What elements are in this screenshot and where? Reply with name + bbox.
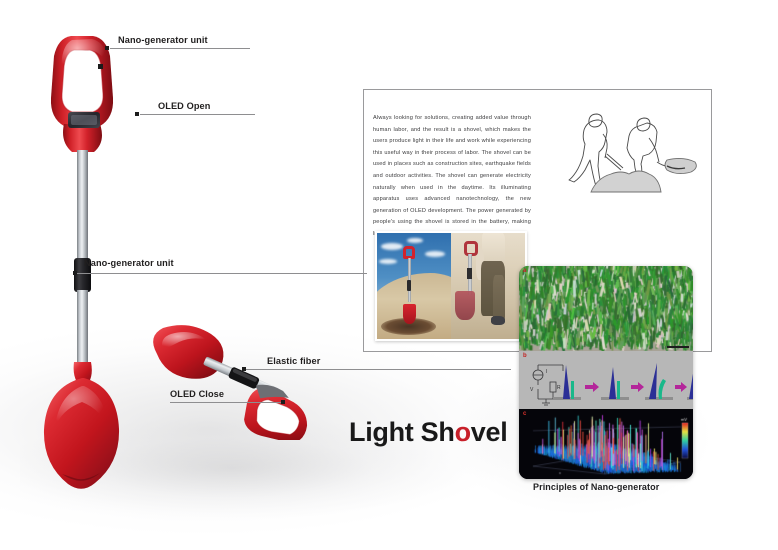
leader-dot-oled-close [281,400,285,404]
leader-dot-nano-generator-unit-mid [73,271,77,275]
voltage-spectrum-canvas [519,409,693,479]
nano-generator-principles-panel: a [519,266,693,479]
nano-panel-caption: Principles of Nano-generator [533,482,659,492]
panel-label-b: b [523,353,527,359]
page-title: Light Shovel [349,417,507,448]
title-part-2: vel [471,417,508,447]
annotation-oled-close: OLED Close [170,389,224,399]
leader-line-elastic-fiber [246,369,511,370]
cloud-shape [425,251,445,257]
afm-tip-bending-schematic: I V R [519,351,693,409]
leader-line-nano-generator-unit-mid [77,273,367,274]
annotation-elastic-fiber: Elastic fiber [267,356,320,366]
voltage-output-3d-map: c [519,409,693,479]
nano-generator-sleeve [467,268,472,279]
leader-line-oled-open [140,114,255,115]
nanowire-texture [519,266,693,351]
leader-dot-elastic-fiber [242,367,246,371]
leader-line-nano-generator-unit-top [110,48,250,49]
panel-label-a: a [523,268,526,274]
bending-sequence-graphic: I V R [519,351,693,409]
light-shovel-render-folded [145,320,345,440]
annotation-oled-open: OLED Open [158,101,210,111]
title-part-1: Light Sh [349,417,455,447]
cloud-shape [381,243,403,250]
title-accent-letter: o [455,417,471,447]
trouser-leg [493,275,505,320]
cloud-shape [379,259,397,264]
shovel-in-ground [407,246,412,324]
design-board: Nano-generator unit OLED Open Nano-gener… [0,0,778,550]
scale-bar [667,346,689,348]
shovel-blade [455,291,475,319]
person-digging-photo [451,233,525,339]
leader-dot-oled-open [135,112,139,116]
cloud-shape [407,238,423,243]
zno-nanowire-array-sem: a [519,266,693,351]
shovel-being-used [452,241,486,330]
svg-text:I: I [546,369,547,375]
two-figures-digging-illustration [563,108,703,208]
annotation-nano-generator-unit-top: Nano-generator unit [118,35,208,45]
product-photo-collage [375,231,527,341]
svg-text:R: R [557,385,561,391]
shovel-in-sand-photo [377,233,451,339]
annotation-nano-generator-unit-mid: Nano-generator unit [84,258,174,268]
panel-label-c: c [523,411,526,417]
nano-generator-sleeve [407,280,411,291]
shoe [491,316,506,326]
shovel-blade [403,304,416,324]
leader-dot-nano-generator-unit-top [105,46,109,50]
description-paragraph: Always looking for solutions, creating a… [373,113,531,241]
leader-line-oled-close [170,402,285,403]
